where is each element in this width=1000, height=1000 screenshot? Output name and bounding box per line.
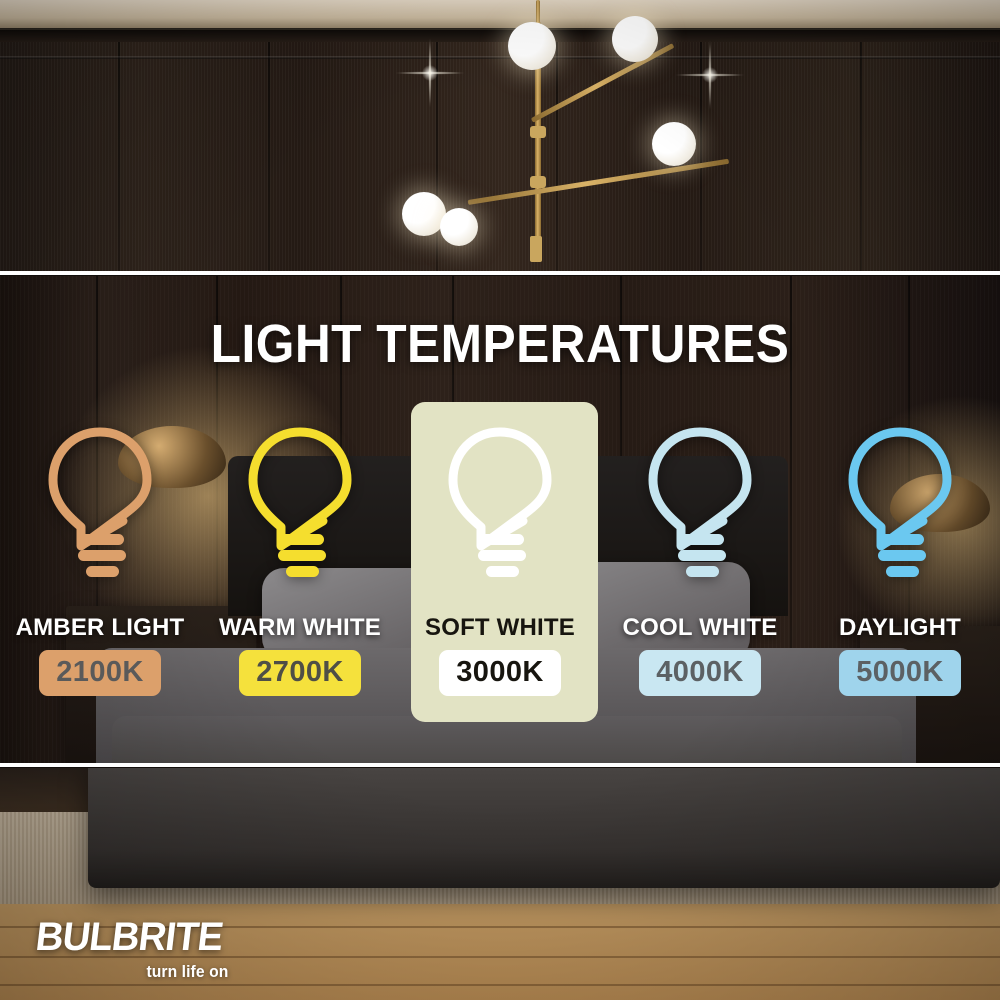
brand-name: BULBRITE — [34, 918, 225, 956]
temperature-card-amber-light[interactable]: AMBER LIGHT2100K — [0, 402, 200, 732]
kelvin-badge: 3000K — [439, 650, 560, 696]
kelvin-badge-wrap: 4000K — [600, 650, 800, 696]
temperature-card-list: AMBER LIGHT2100K WARM WHITE2700K SOFT WH… — [0, 402, 1000, 732]
light-bulb-icon — [441, 424, 559, 584]
light-bulb-icon — [841, 424, 959, 584]
temperature-card-daylight[interactable]: DAYLIGHT5000K — [800, 402, 1000, 732]
temperature-label: DAYLIGHT — [800, 614, 1000, 642]
kelvin-badge: 4000K — [639, 650, 760, 696]
light-bulb-icon — [241, 424, 359, 584]
temperature-label: COOL WHITE — [600, 614, 800, 642]
brand-tagline: turn life on — [52, 962, 231, 982]
temperature-label: SOFT WHITE — [400, 614, 600, 642]
infographic-stage: LIGHT TEMPERATURES AMBER LIGHT2100K WARM… — [0, 0, 1000, 1000]
light-bulb-icon — [641, 424, 759, 584]
temperature-card-soft-white[interactable]: SOFT WHITE3000K — [400, 402, 600, 732]
kelvin-badge-wrap: 5000K — [800, 650, 1000, 696]
light-bulb-icon — [41, 424, 159, 584]
brand-logo: BULBRITE turn life on — [36, 918, 230, 982]
kelvin-badge: 2700K — [239, 650, 360, 696]
temperature-card-warm-white[interactable]: WARM WHITE2700K — [200, 402, 400, 732]
kelvin-badge: 2100K — [39, 650, 160, 696]
temperature-card-cool-white[interactable]: COOL WHITE4000K — [600, 402, 800, 732]
page-title: LIGHT TEMPERATURES — [40, 313, 960, 375]
temperature-label: WARM WHITE — [200, 614, 400, 642]
infographic-content: LIGHT TEMPERATURES AMBER LIGHT2100K WARM… — [0, 0, 1000, 1000]
kelvin-badge: 5000K — [839, 650, 960, 696]
kelvin-badge-wrap: 2100K — [0, 650, 200, 696]
kelvin-badge-wrap: 2700K — [200, 650, 400, 696]
temperature-label: AMBER LIGHT — [0, 614, 200, 642]
kelvin-badge-wrap: 3000K — [400, 650, 600, 696]
